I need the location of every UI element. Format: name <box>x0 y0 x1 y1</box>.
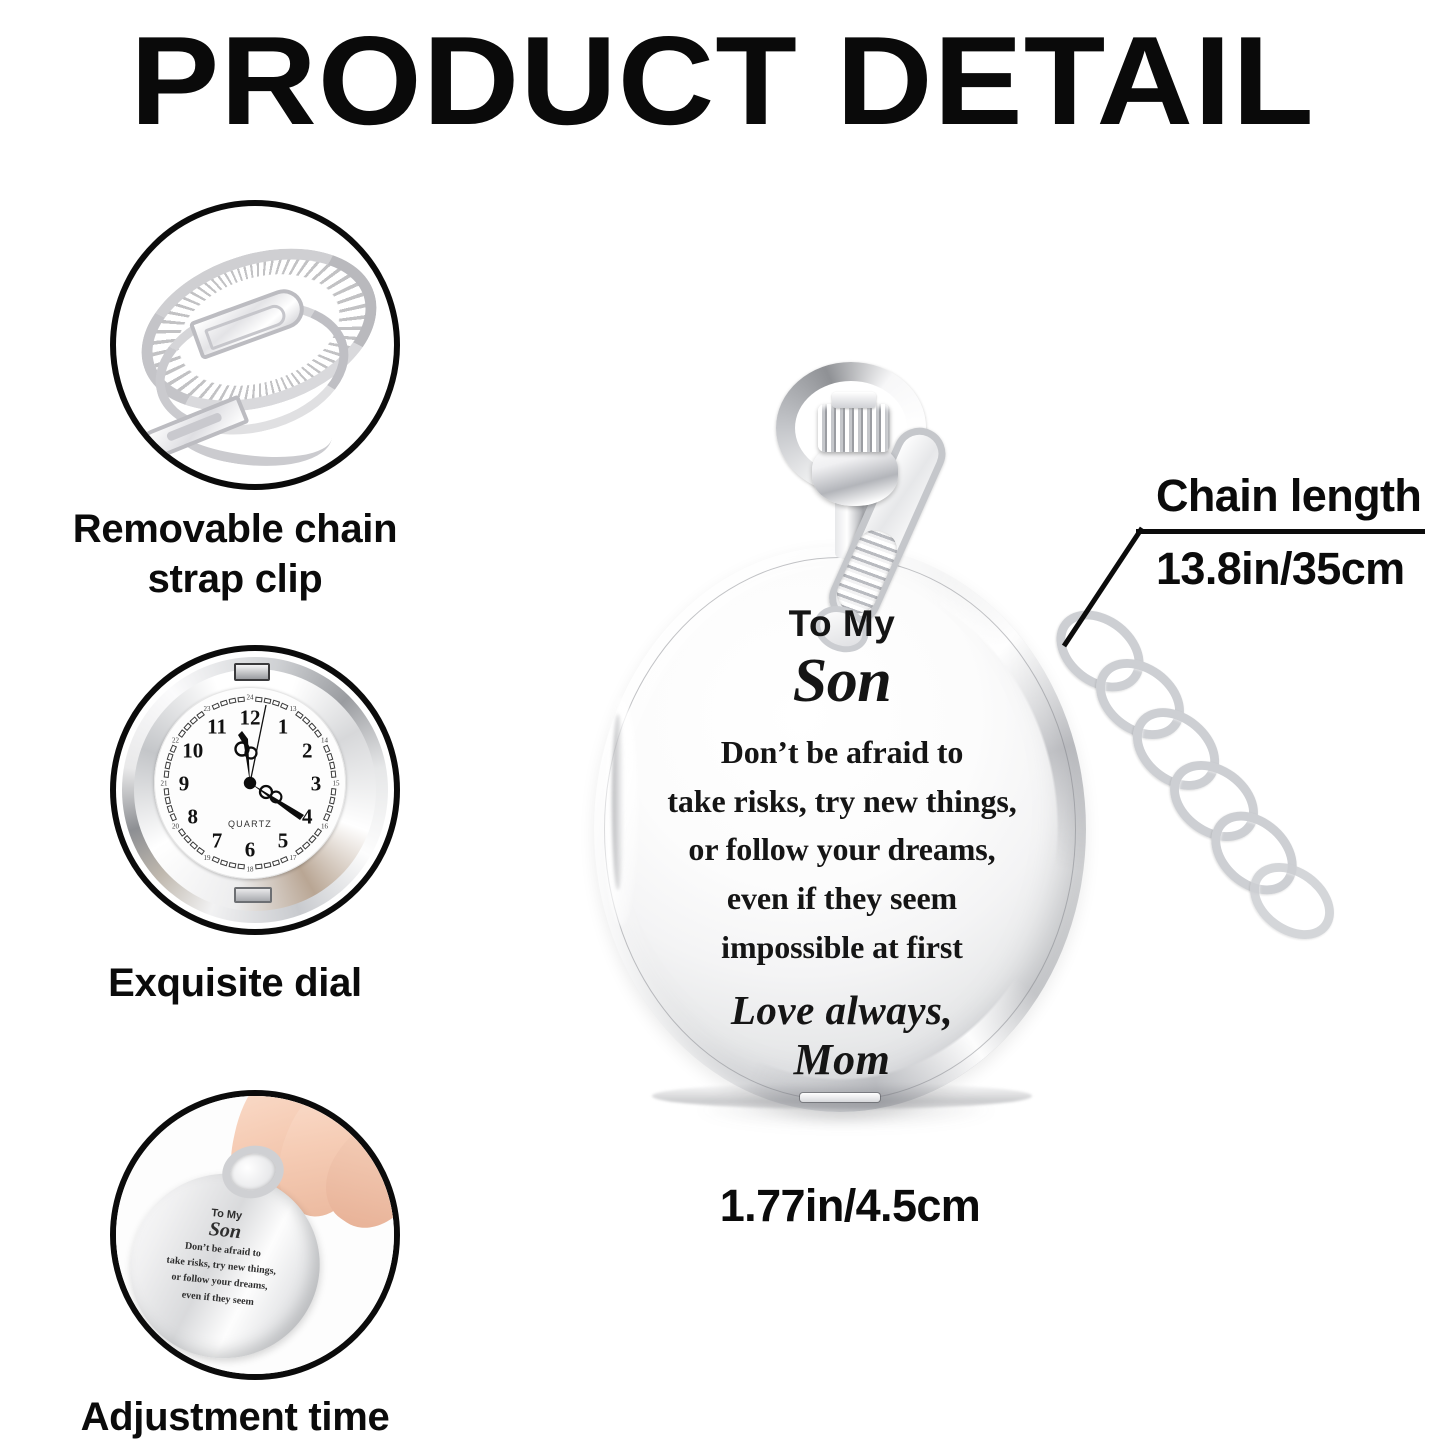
watch-drop-shadow <box>636 1086 1056 1134</box>
svg-text:6: 6 <box>245 838 256 862</box>
pendant-shoulder <box>812 444 898 506</box>
case-rim-reflection <box>594 546 1086 1112</box>
chain-coil-graphic <box>116 206 394 484</box>
svg-text:22: 22 <box>172 737 180 745</box>
callout-chain-length: Chain length 13.8in/35cm <box>1136 470 1425 595</box>
caption-line-1: Removable chain <box>0 504 470 554</box>
case-latch <box>800 1093 880 1102</box>
case-bottom-lip <box>652 1083 1032 1109</box>
case-highlight-left <box>604 696 638 926</box>
clasp-spring <box>831 524 903 619</box>
engraving-body: Don’t be afraid to take risks, try new t… <box>636 728 1048 971</box>
engraving-body-line-1: Don’t be afraid to <box>636 728 1048 777</box>
thumbnail-exquisite-dial: 131415161718192021222324 121234567891011… <box>110 645 400 935</box>
callout-diameter-value: 1.77in/4.5cm <box>640 1180 1060 1232</box>
svg-text:17: 17 <box>290 854 298 862</box>
watch-dial-face: 131415161718192021222324 121234567891011… <box>154 687 346 879</box>
engraving-body-line-4: even if they seem <box>636 874 1048 923</box>
svg-text:2: 2 <box>302 739 313 763</box>
chain-length-rule <box>1136 529 1425 534</box>
svg-text:23: 23 <box>204 705 212 713</box>
thumbnail-adjustment-time: To My Son Don’t be afraid to take risks,… <box>110 1090 400 1380</box>
chain-length-label: Chain length <box>1156 470 1425 522</box>
svg-text:7: 7 <box>212 829 223 853</box>
tilted-engraving-text: To My Son Don’t be afraid to take risks,… <box>129 1199 316 1315</box>
case-bezel <box>604 557 1076 1101</box>
swivel-clasp <box>809 418 957 653</box>
winding-crown <box>818 404 890 452</box>
engraving-signature-line-1: Love always, <box>731 987 953 1033</box>
svg-text:1: 1 <box>278 714 289 738</box>
crown-cap <box>832 392 876 408</box>
svg-text:10: 10 <box>182 739 203 763</box>
chain-strap-clip-illustration <box>116 206 394 484</box>
svg-text:19: 19 <box>204 854 212 862</box>
engraving-salutation: To My <box>636 604 1048 645</box>
chain-length-value: 13.8in/35cm <box>1156 543 1425 595</box>
chain-link <box>1195 795 1313 911</box>
chain-link <box>1155 744 1274 857</box>
case-hinge-bottom <box>234 887 272 903</box>
clock-face-svg: 131415161718192021222324 121234567891011… <box>154 687 346 879</box>
clasp-swivel-ring <box>807 598 876 661</box>
feature-caption-exquisite-dial: Exquisite dial <box>0 958 470 1008</box>
pendant-stem <box>835 492 875 558</box>
dial-illustration: 131415161718192021222324 121234567891011… <box>116 651 394 929</box>
svg-text:18: 18 <box>247 866 255 874</box>
hand-holding-watch-illustration: To My Son Don’t be afraid to take risks,… <box>116 1096 394 1374</box>
engraving-relation: Son <box>636 647 1048 716</box>
chain-link <box>1081 642 1200 755</box>
svg-text:8: 8 <box>188 805 199 829</box>
svg-text:21: 21 <box>161 780 169 788</box>
chain-length-leader-line <box>1060 525 1146 649</box>
chain-link <box>1235 847 1348 954</box>
bow-ring <box>776 362 926 494</box>
feature-caption-adjustment-time: Adjustment time <box>0 1392 470 1442</box>
clasp-arm <box>821 419 954 632</box>
case-hinge-top <box>234 663 270 681</box>
thumbnail-chain-strap-clip <box>110 200 400 490</box>
svg-text:13: 13 <box>290 705 298 713</box>
engraving-body-line-2: take risks, try new things, <box>636 777 1048 826</box>
svg-text:14: 14 <box>321 737 329 745</box>
svg-text:5: 5 <box>278 829 289 853</box>
engraving-signature-line-2: Mom <box>636 1033 1048 1087</box>
svg-text:4: 4 <box>302 805 313 829</box>
svg-text:3: 3 <box>311 772 322 796</box>
svg-text:15: 15 <box>333 780 341 788</box>
svg-text:11: 11 <box>207 714 227 738</box>
feature-caption-removable-chain-strap-clip: Removable chain strap clip <box>0 504 470 605</box>
caption-line-1: Adjustment time <box>0 1392 470 1442</box>
svg-text:QUARTZ: QUARTZ <box>228 819 272 829</box>
caption-line-2: strap clip <box>0 554 470 604</box>
case-highlight-left-inner <box>612 714 624 890</box>
chain-link <box>1117 691 1236 806</box>
engraving-body-line-5: impossible at first <box>636 923 1048 972</box>
engraving-body-line-3: or follow your dreams, <box>636 825 1048 874</box>
caption-line-1: Exquisite dial <box>0 958 470 1008</box>
svg-text:9: 9 <box>179 772 190 796</box>
page-title: PRODUCT DETAIL <box>0 18 1445 144</box>
watch-engraving: To My Son Don’t be afraid to take risks,… <box>636 604 1048 1087</box>
svg-text:12: 12 <box>240 706 261 730</box>
pocket-watch-case <box>594 546 1086 1112</box>
engraving-signature: Love always, Mom <box>636 985 1048 1087</box>
svg-text:20: 20 <box>172 823 180 831</box>
svg-text:16: 16 <box>321 823 329 831</box>
svg-text:24: 24 <box>247 694 255 702</box>
